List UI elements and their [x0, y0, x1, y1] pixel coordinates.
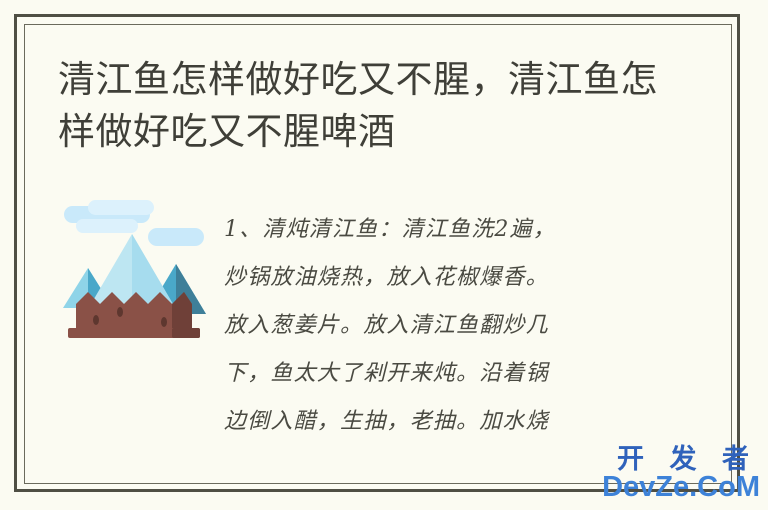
article-content-row: 1、清炖清江鱼：清江鱼洗2遍， 炒锅放油烧热，放入花椒爆香。 放入葱姜片。放入清… [58, 196, 684, 446]
article-body: 1、清炖清江鱼：清江鱼洗2遍， 炒锅放油烧热，放入花椒爆香。 放入葱姜片。放入清… [224, 196, 684, 446]
body-line: 炒锅放油烧热，放入花椒爆香。 [224, 254, 684, 302]
body-line: 边倒入醋，生抽，老抽。加水烧 [224, 398, 684, 446]
body-line: 放入葱姜片。放入清江鱼翻炒几 [224, 302, 684, 350]
article-thumbnail[interactable] [58, 196, 210, 356]
watermark-en-text: DevZe.CoM [602, 472, 760, 502]
site-watermark: 开 发 者 DevZe.CoM [602, 444, 760, 502]
page-title: 清江鱼怎样做好吃又不腥，清江鱼怎样做好吃又不腥啤酒 [58, 54, 670, 158]
body-line: 1、清炖清江鱼：清江鱼洗2遍， [224, 206, 684, 254]
mountain-placeholder-icon [58, 196, 210, 356]
watermark-cn-text: 开 发 者 [602, 444, 760, 474]
title-block: 清江鱼怎样做好吃又不腥，清江鱼怎样做好吃又不腥啤酒 [58, 54, 670, 158]
body-line: 下，鱼太大了剁开来炖。沿着锅 [224, 350, 684, 398]
article-page: 清江鱼怎样做好吃又不腥，清江鱼怎样做好吃又不腥啤酒 [0, 0, 768, 510]
